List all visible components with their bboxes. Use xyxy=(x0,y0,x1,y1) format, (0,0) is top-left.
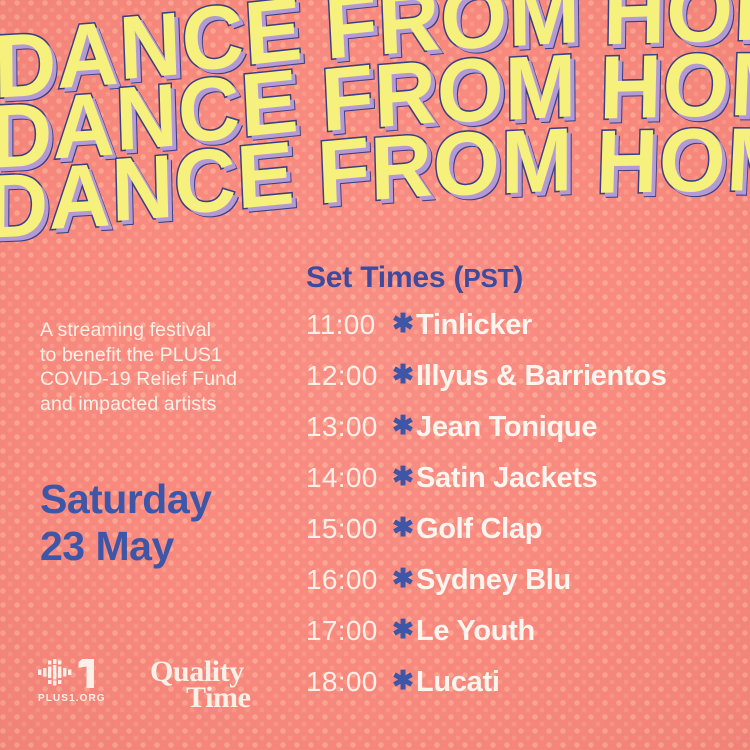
headline-letter: M xyxy=(725,109,750,213)
festival-description: A streaming festival to benefit the PLUS… xyxy=(40,318,288,416)
description-line: COVID-19 Relief Fund xyxy=(40,367,288,392)
set-time-row[interactable]: 12:00✱Illyus & Barrientos xyxy=(306,360,746,411)
set-times-title-main: Set Times ( xyxy=(306,261,463,294)
set-time-time: 15:00 xyxy=(306,513,390,545)
headline-letter: E xyxy=(235,122,297,231)
event-day: Saturday xyxy=(40,476,288,523)
set-time-row[interactable]: 13:00✱Jean Tonique xyxy=(306,411,746,462)
asterisk-icon: ✱ xyxy=(390,461,416,492)
set-time-artist: Lucati xyxy=(416,666,500,699)
set-time-artist: Sydney Blu xyxy=(416,564,571,597)
quality-time-line-2: Time xyxy=(150,686,251,711)
sponsor-logos: PLUS1.ORG Quality Time xyxy=(38,658,251,710)
plus1-logo[interactable]: PLUS1.ORG xyxy=(38,658,110,704)
set-time-row[interactable]: 18:00✱Lucati xyxy=(306,666,746,717)
description-line: A streaming festival xyxy=(40,318,288,343)
headline-letter: O xyxy=(433,111,502,218)
set-times-list: 11:00✱Tinlicker12:00✱Illyus & Barrientos… xyxy=(306,309,746,717)
description-line: to benefit the PLUS1 xyxy=(40,343,288,368)
asterisk-icon: ✱ xyxy=(390,665,416,696)
set-time-artist: Golf Clap xyxy=(416,513,542,546)
plus1-plus-mark-icon xyxy=(38,658,110,690)
asterisk-icon: ✱ xyxy=(390,410,416,441)
set-times-title: Set Times (PST) xyxy=(306,261,746,295)
set-time-row[interactable]: 15:00✱Golf Clap xyxy=(306,513,746,564)
set-time-time: 17:00 xyxy=(306,615,390,647)
headline-letter: M xyxy=(501,109,574,216)
event-date: Saturday 23 May xyxy=(40,476,288,570)
headline-letter: O xyxy=(657,109,729,213)
asterisk-icon: ✱ xyxy=(390,308,416,339)
headline-letter: H xyxy=(595,110,661,215)
asterisk-icon: ✱ xyxy=(390,563,416,594)
set-times-title-close: ) xyxy=(513,261,523,294)
set-time-time: 12:00 xyxy=(306,360,390,392)
festival-poster: DANCE FROM HOME DANCE FROM HOME DANCE FR… xyxy=(0,0,750,750)
set-times-title-pst: PST xyxy=(463,263,513,293)
set-time-time: 13:00 xyxy=(306,411,390,443)
set-time-row[interactable]: 16:00✱Sydney Blu xyxy=(306,564,746,615)
set-time-time: 18:00 xyxy=(306,666,390,698)
headline-letter: F xyxy=(315,118,372,226)
set-time-time: 11:00 xyxy=(306,309,390,341)
headline-letter: C xyxy=(173,128,239,236)
description-line: and impacted artists xyxy=(40,392,288,417)
quality-time-logo[interactable]: Quality Time xyxy=(150,660,251,710)
set-time-time: 16:00 xyxy=(306,564,390,596)
asterisk-icon: ✱ xyxy=(390,359,416,390)
asterisk-icon: ✱ xyxy=(390,512,416,543)
set-time-row[interactable]: 17:00✱Le Youth xyxy=(306,615,746,666)
set-time-artist: Jean Tonique xyxy=(416,411,597,444)
plus1-wordmark: PLUS1.ORG xyxy=(38,693,110,704)
headline-letter: R xyxy=(369,114,434,222)
set-time-row[interactable]: 11:00✱Tinlicker xyxy=(306,309,746,360)
headline-letter: N xyxy=(111,135,176,243)
set-time-time: 14:00 xyxy=(306,462,390,494)
asterisk-icon: ✱ xyxy=(390,614,416,645)
set-time-artist: Satin Jackets xyxy=(416,462,598,495)
headline-letter xyxy=(573,109,596,213)
set-time-artist: Tinlicker xyxy=(416,309,532,342)
set-time-artist: Illyus & Barrientos xyxy=(416,360,667,393)
headline-letter: D xyxy=(0,154,49,258)
headline-letter: A xyxy=(48,144,112,251)
set-time-row[interactable]: 14:00✱Satin Jackets xyxy=(306,462,746,513)
headline-block: DANCE FROM HOME DANCE FROM HOME DANCE FR… xyxy=(0,0,750,258)
event-date-value: 23 May xyxy=(40,523,288,570)
left-column: A streaming festival to benefit the PLUS… xyxy=(40,318,288,570)
set-times-panel: Set Times (PST) 11:00✱Tinlicker12:00✱Ill… xyxy=(306,261,746,717)
set-time-artist: Le Youth xyxy=(416,615,535,648)
